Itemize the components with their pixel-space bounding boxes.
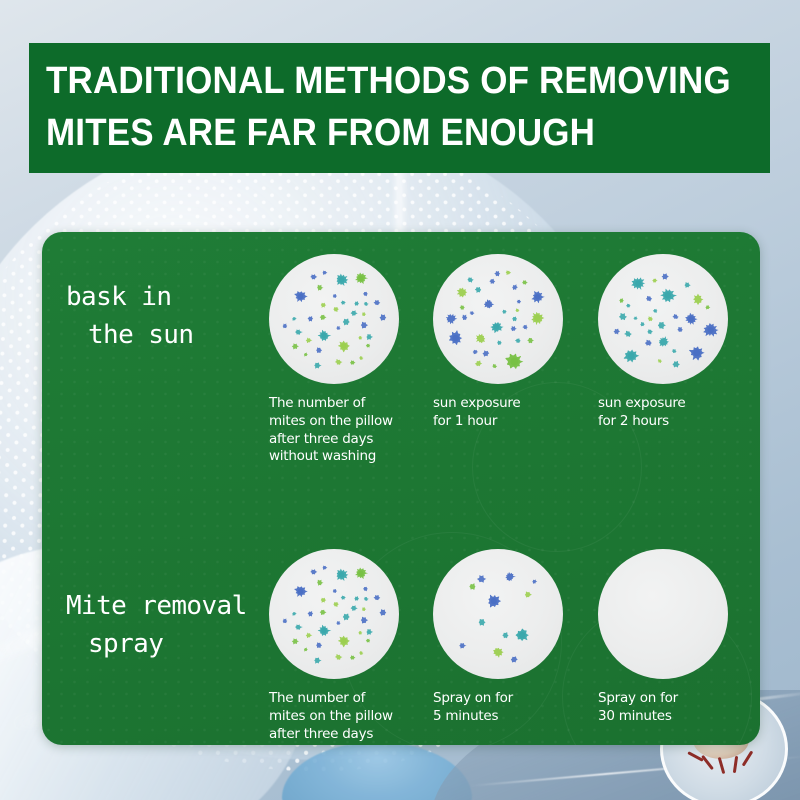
- poster-root: TRADITIONAL METHODS OF REMOVING MITES AR…: [0, 0, 800, 800]
- dust-mite-leg: [733, 756, 738, 773]
- headline-line-2: MITES ARE FAR FROM ENOUGH: [46, 108, 696, 160]
- dust-mite-leg: [687, 751, 703, 762]
- row-2-cells: The number of mites on the pillow after …: [260, 489, 760, 745]
- cell-spray-baseline: The number of mites on the pillow after …: [266, 549, 418, 745]
- caption-spray-5-minutes: Spray on for 5 minutes: [433, 690, 582, 726]
- row-label-bask-in-the-sun: bask in the sun: [66, 278, 276, 355]
- petri-dish-spray-baseline: [269, 549, 399, 679]
- petri-dish-sun-baseline: [269, 254, 399, 384]
- petri-dish-spray-5-minutes: [433, 549, 563, 679]
- caption-spray-baseline: The number of mites on the pillow after …: [269, 690, 418, 745]
- row-bask-in-the-sun: bask in the sun The number of mites on t…: [42, 232, 760, 488]
- cell-sun-baseline: The number of mites on the pillow after …: [266, 254, 418, 466]
- caption-sun-1-hour: sun exposure for 1 hour: [433, 395, 582, 431]
- petri-dish-spray-30-minutes: [598, 549, 728, 679]
- cell-sun-1-hour: sun exposure for 1 hour: [430, 254, 582, 431]
- comparison-panel: bask in the sun The number of mites on t…: [42, 232, 760, 745]
- row-label-mite-removal-spray: Mite removal spray: [66, 587, 276, 664]
- petri-dish-sun-2-hours: [598, 254, 728, 384]
- caption-spray-30-minutes: Spray on for 30 minutes: [598, 690, 747, 726]
- dust-mite-leg: [718, 757, 726, 774]
- caption-sun-baseline: The number of mites on the pillow after …: [269, 395, 418, 466]
- row-label-line-1: bask in: [66, 282, 171, 312]
- cell-sun-2-hours: sun exposure for 2 hours: [595, 254, 747, 431]
- sweep-highlight-line: [471, 755, 800, 787]
- row-label-line-1: Mite removal: [66, 591, 247, 621]
- blue-object-photo: [282, 742, 472, 800]
- row-label-line-2: the sun: [66, 316, 276, 354]
- row-1-cells: The number of mites on the pillow after …: [260, 232, 760, 488]
- headline-line-1: TRADITIONAL METHODS OF REMOVING: [46, 56, 696, 108]
- dust-mite-leg: [701, 755, 714, 770]
- dust-mite-leg: [742, 750, 754, 766]
- cell-spray-5-minutes: Spray on for 5 minutes: [430, 549, 582, 726]
- petri-dish-sun-1-hour: [433, 254, 563, 384]
- headline-banner: TRADITIONAL METHODS OF REMOVING MITES AR…: [29, 43, 770, 173]
- row-label-line-2: spray: [66, 625, 276, 663]
- cell-spray-30-minutes: Spray on for 30 minutes: [595, 549, 747, 726]
- caption-sun-2-hours: sun exposure for 2 hours: [598, 395, 747, 431]
- row-mite-removal-spray: Mite removal spray The number of mites o…: [42, 489, 760, 745]
